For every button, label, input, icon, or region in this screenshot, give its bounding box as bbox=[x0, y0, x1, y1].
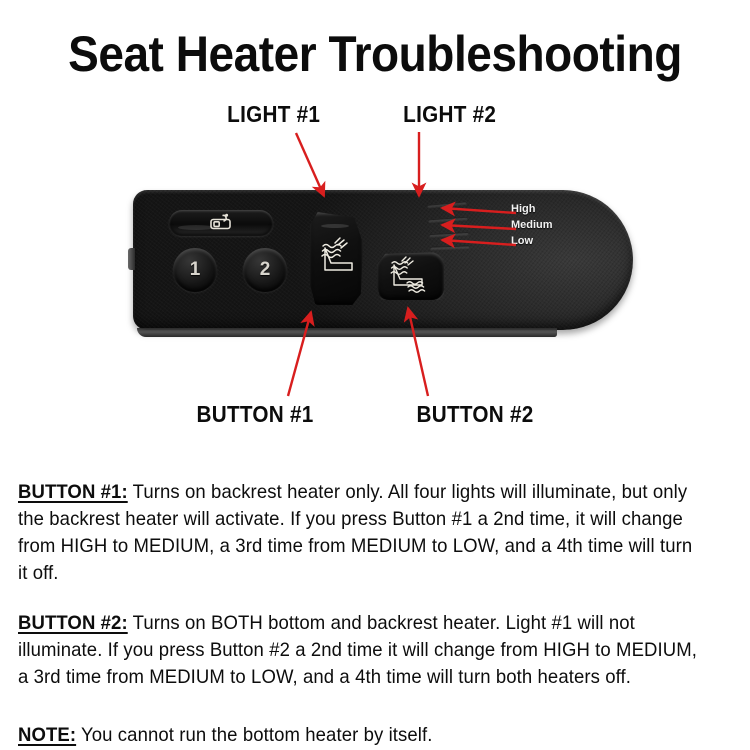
seat-full-heat-icon bbox=[377, 252, 444, 300]
callout-label-light-1: LIGHT #1 bbox=[227, 102, 320, 126]
paragraph-note-lead: NOTE: bbox=[18, 724, 76, 746]
seat-memory-preset-2-button[interactable]: 2 bbox=[243, 248, 287, 292]
seat-heater-control-panel: 1 2 bbox=[133, 190, 633, 330]
seat-backrest-heat-icon bbox=[309, 212, 363, 305]
seat-memory-icon bbox=[169, 210, 273, 236]
panel-bottom-lip bbox=[137, 328, 557, 337]
paragraph-button-2-lead: BUTTON #2: bbox=[18, 612, 128, 634]
callout-label-button-2: BUTTON #2 bbox=[417, 402, 534, 426]
paragraph-button-1-lead: BUTTON #1: bbox=[18, 481, 128, 503]
paragraph-note: NOTE: You cannot run the bottom heater b… bbox=[18, 722, 698, 749]
page-title: Seat Heater Troubleshooting bbox=[30, 26, 720, 82]
paragraph-note-text: You cannot run the bottom heater by itse… bbox=[76, 724, 432, 746]
preset-1-label: 1 bbox=[190, 259, 201, 281]
arrow-light-1 bbox=[296, 133, 324, 196]
heater-button-1-backrest[interactable] bbox=[309, 212, 363, 305]
panel-side-tab bbox=[128, 248, 135, 270]
callout-label-light-2: LIGHT #2 bbox=[403, 102, 496, 126]
level-label-medium: Medium bbox=[511, 219, 553, 232]
preset-2-label: 2 bbox=[260, 259, 271, 281]
seat-memory-set-button[interactable] bbox=[169, 210, 273, 236]
level-label-high: High bbox=[511, 203, 535, 216]
paragraph-button-1: BUTTON #1: Turns on backrest heater only… bbox=[18, 479, 698, 587]
seat-memory-preset-1-button[interactable]: 1 bbox=[173, 248, 217, 292]
level-label-low: Low bbox=[511, 235, 533, 248]
heater-button-2-both[interactable] bbox=[377, 252, 444, 300]
paragraph-button-2: BUTTON #2: Turns on BOTH bottom and back… bbox=[18, 610, 698, 691]
callout-label-button-1: BUTTON #1 bbox=[197, 402, 314, 426]
